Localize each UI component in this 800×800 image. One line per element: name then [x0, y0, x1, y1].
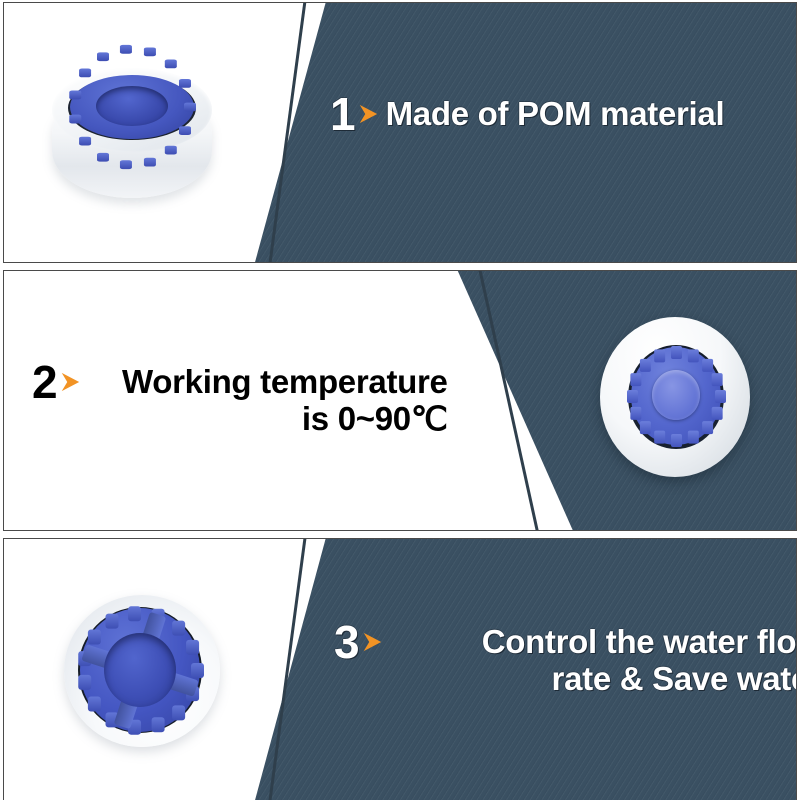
arrow-bullet-icon	[361, 631, 383, 653]
product-3-center-hub	[104, 633, 176, 707]
panel-1-text-block: 1 Made of POM material	[330, 91, 724, 137]
panel-3-headline: Control the water flow rate & Save water	[390, 619, 797, 698]
arrow-bullet-icon	[357, 103, 379, 125]
product-image-panel-2	[600, 313, 752, 483]
product-image-panel-3	[64, 593, 224, 751]
panel-1-headline: Made of POM material	[386, 91, 725, 133]
step-number-2: 2	[32, 359, 57, 405]
product-2-center-hub	[652, 370, 700, 420]
arrow-bullet-icon	[59, 371, 81, 393]
panel-3-text-block: 3 Control the water flow rate & Save wat…	[334, 619, 797, 698]
feature-panel-1: 1 Made of POM material	[3, 2, 797, 263]
step-number-1: 1	[330, 91, 355, 137]
infographic-sheet: 1 Made of POM material	[0, 0, 800, 800]
product-image-panel-1	[44, 58, 222, 213]
step-number-3: 3	[334, 619, 359, 665]
panel-2-headline: Working temperature is 0~90℃	[88, 359, 448, 438]
product-1-center-hub	[96, 86, 168, 126]
feature-panel-2: 2 Working temperature is 0~90℃	[3, 270, 797, 531]
feature-panel-3: 3 Control the water flow rate & Save wat…	[3, 538, 797, 800]
panel-2-text-block: 2 Working temperature is 0~90℃	[32, 359, 448, 438]
